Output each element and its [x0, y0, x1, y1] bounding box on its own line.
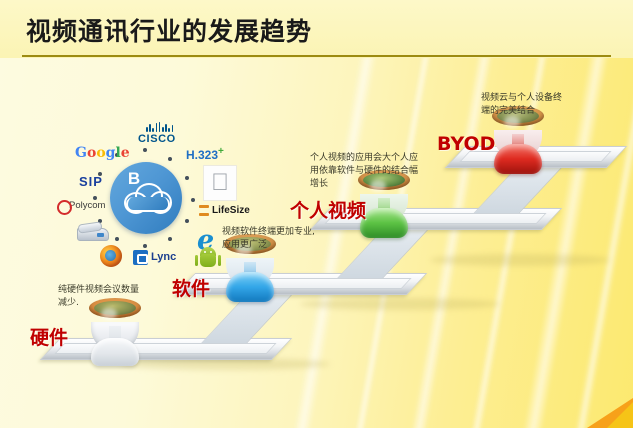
page-title: 视频通讯行业的发展趋势 — [26, 12, 312, 48]
logo-polycom-text: Polycom — [69, 200, 105, 211]
logo-apple:  — [203, 165, 237, 201]
technology-logo-cluster: B Google CISCO H.323+ — [55, 105, 295, 295]
logo-h323-plus: + — [218, 146, 224, 157]
logo-lifesize: LifeSize — [212, 205, 250, 216]
lync-mark-icon — [133, 250, 148, 265]
logo-sip: SIP — [79, 174, 103, 189]
cloud-letter: B — [110, 162, 158, 192]
step-label-byod: BYOD — [437, 133, 495, 155]
logo-lync: Lync — [133, 250, 193, 266]
title-underline — [22, 55, 611, 57]
logo-lifesize-text: LifeSize — [212, 205, 250, 216]
note-personal-video: 个人视频的应用会大个人应 用依靠软件与硬件的结合幅 增长 — [310, 152, 440, 191]
cisco-bars-icon — [146, 122, 173, 132]
step-label-personal-video: 个人视频 — [290, 196, 366, 223]
step-label-hardware: 硬件 — [30, 323, 68, 350]
desk-phone-icon — [77, 223, 107, 241]
lifesize-mark-icon — [199, 205, 209, 216]
logo-h323-text: H.323 — [186, 148, 218, 162]
cloud-icon: B — [110, 162, 182, 234]
logo-sip-text: SIP — [79, 174, 103, 189]
logo-android — [198, 247, 218, 269]
logo-polycom: Polycom — [69, 200, 105, 211]
logo-google: Google — [75, 145, 130, 161]
logo-h323: H.323+ — [186, 146, 224, 162]
logo-cisco-text: CISCO — [138, 133, 176, 145]
step-tread-hardware — [40, 338, 293, 360]
polycom-mark-icon — [57, 200, 72, 215]
note-byod: 视频云与个人设备终 端的完美结合 — [481, 92, 593, 118]
logo-lync-text: Lync — [151, 251, 176, 263]
logo-firefox — [100, 245, 122, 267]
logo-cisco: CISCO — [138, 133, 176, 145]
apple-icon:  — [211, 170, 229, 196]
slide-canvas: 视频通讯行业的发展趋势 — [0, 0, 633, 428]
